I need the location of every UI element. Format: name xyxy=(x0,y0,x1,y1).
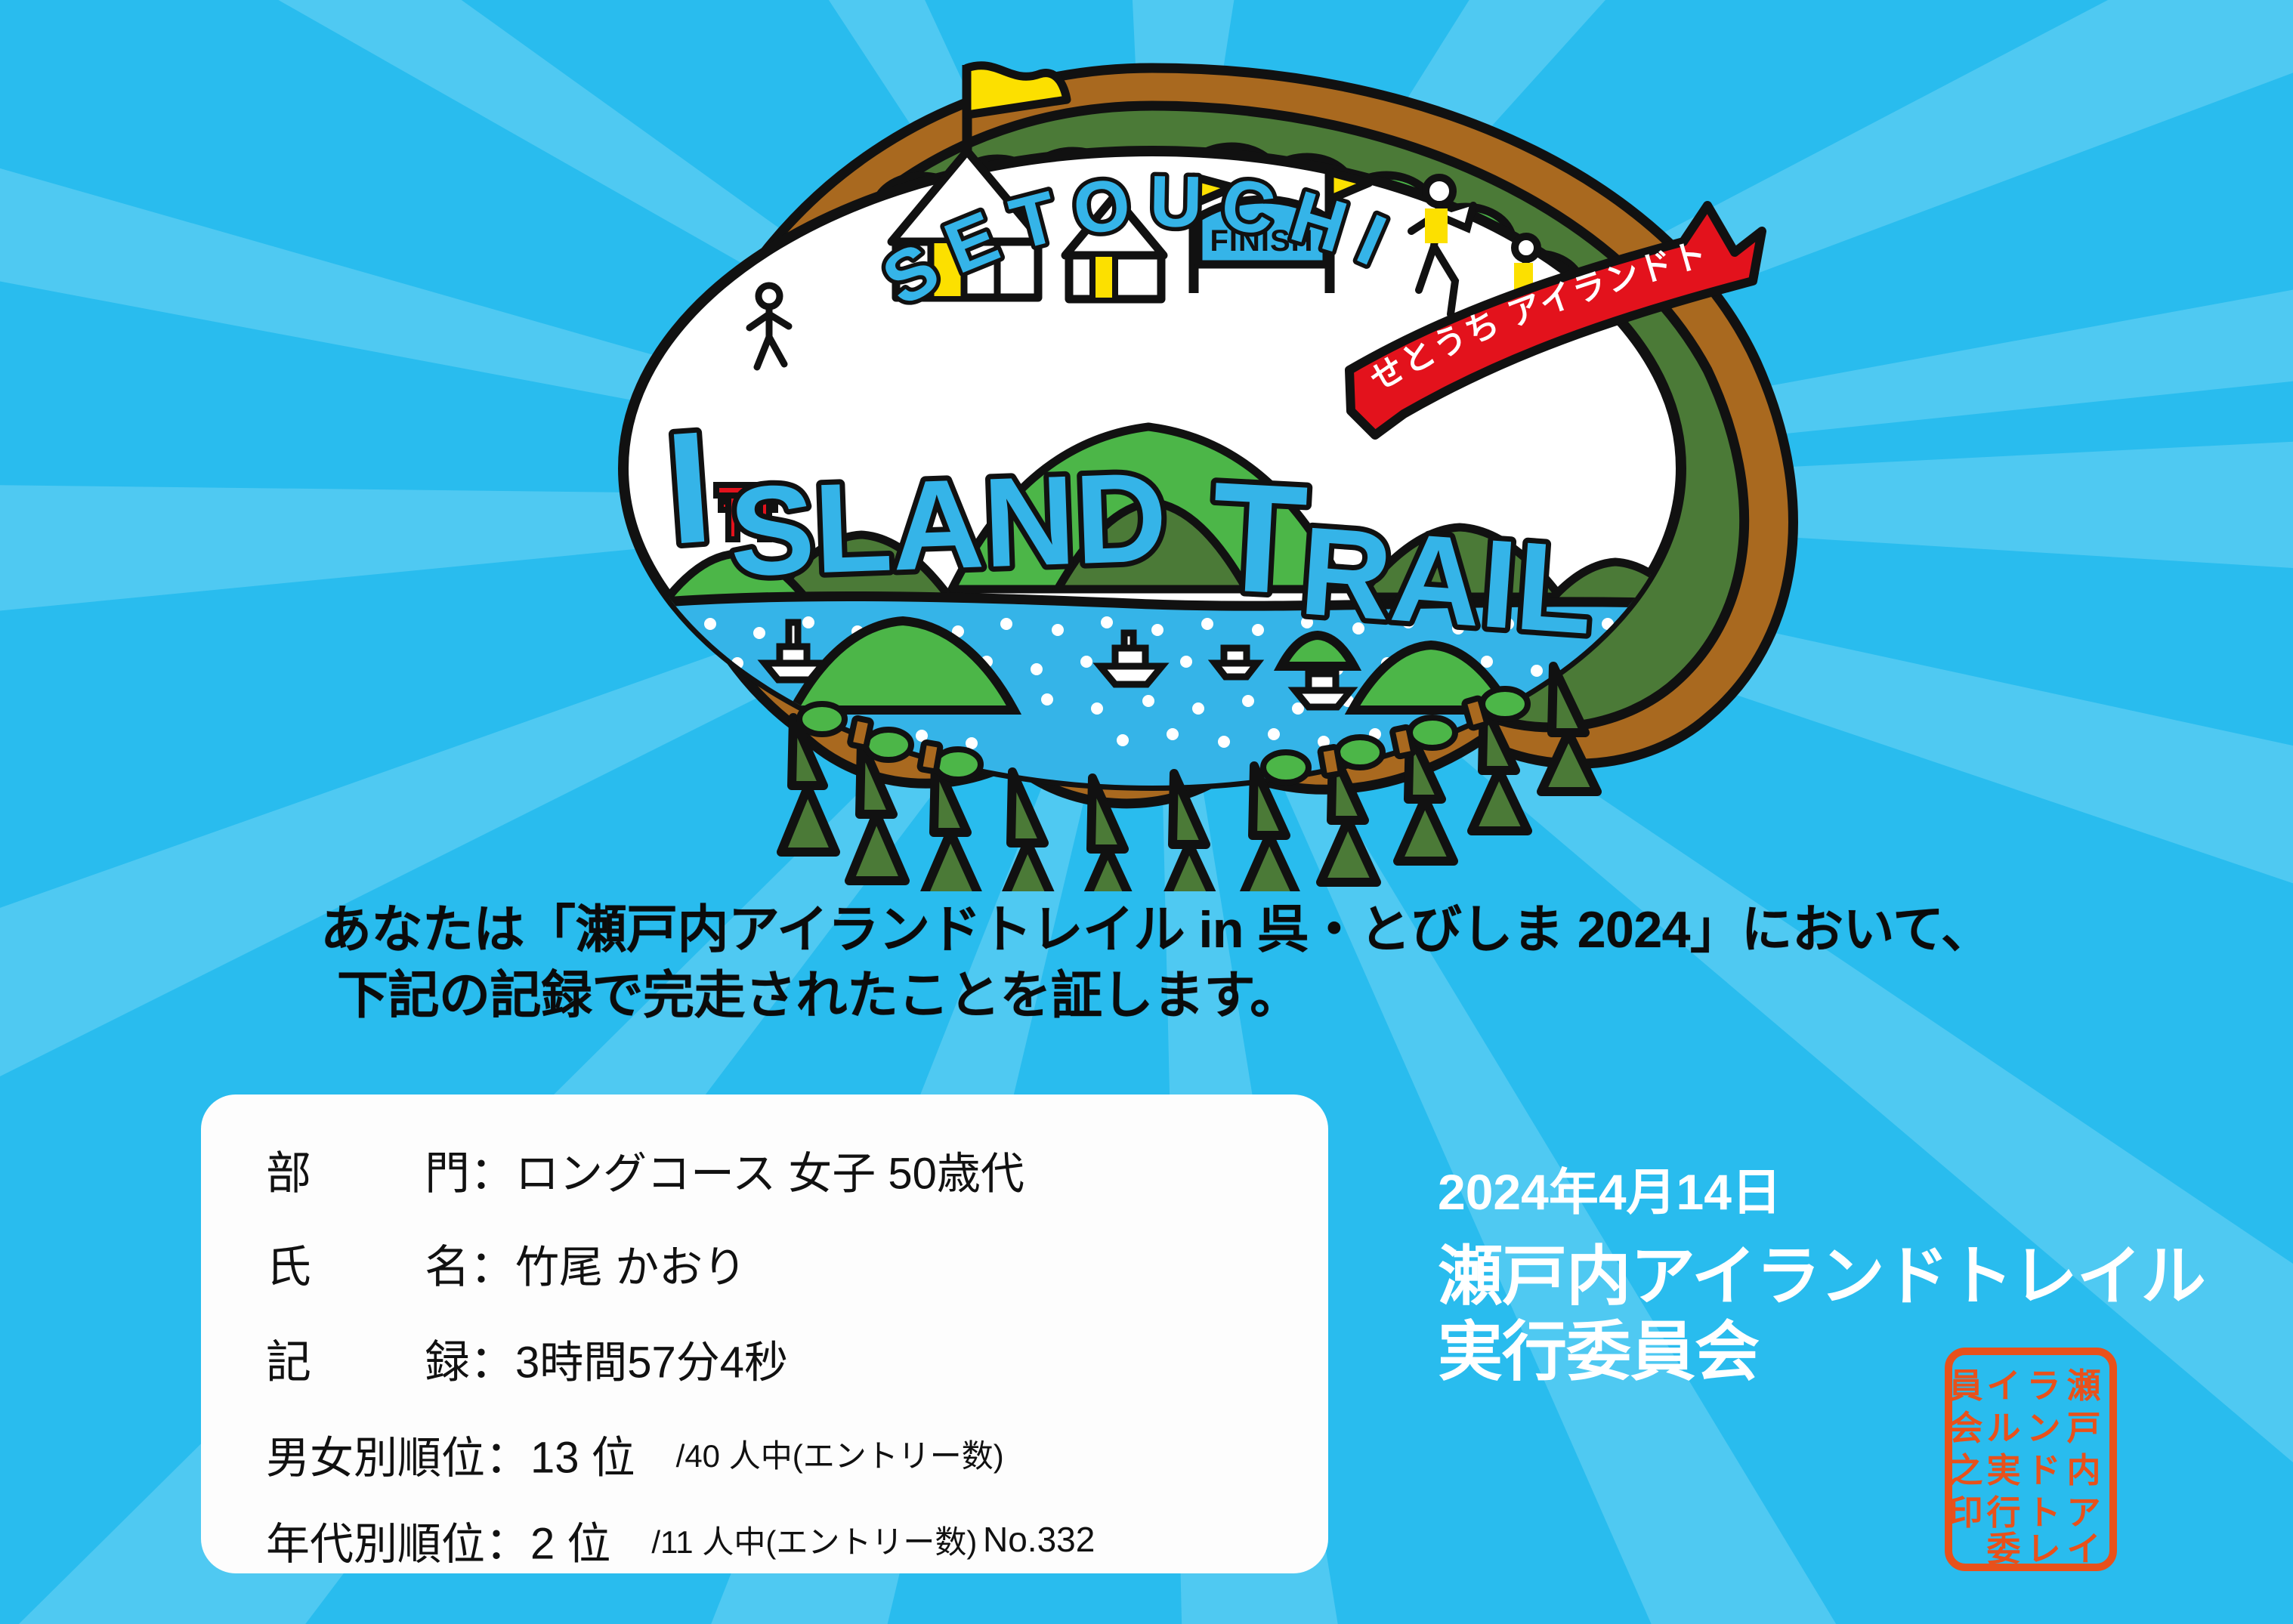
colon-time: ： xyxy=(470,1337,515,1388)
svg-text:ン: ン xyxy=(2026,1409,2060,1447)
record-row-age-rank: 年代別順位：2 位/11 人中(エントリー数) xyxy=(266,1507,977,1573)
bib-number: No.332 xyxy=(983,1519,1095,1560)
note-gender-rank: /40 人中(エントリー数) xyxy=(676,1438,1004,1474)
seal-column-3-char-1: イ xyxy=(1986,1366,2020,1405)
value-gender-rank: 13 位 xyxy=(530,1434,635,1483)
svg-text:内: 内 xyxy=(2066,1451,2100,1490)
svg-text:イ: イ xyxy=(2066,1530,2100,1568)
record-row-category: 部門：ロングコース 女子 50歳代 xyxy=(266,1137,1024,1203)
value-name: 竹尾 かおり xyxy=(515,1243,746,1292)
svg-text:印: 印 xyxy=(1948,1493,1982,1532)
statement-line-2: 下記の記録で完走されたことを証します。 xyxy=(337,963,2058,1029)
svg-text:行: 行 xyxy=(1986,1493,2020,1532)
svg-text:レ: レ xyxy=(2026,1530,2060,1568)
certificate-page: FINISH xyxy=(0,0,2293,1624)
label-name: 氏名 xyxy=(266,1230,470,1296)
seal-column-1-char-1: 瀬 xyxy=(2066,1366,2100,1405)
svg-text:実: 実 xyxy=(1986,1451,2020,1490)
record-row-time: 記録：3時間57分4秒 xyxy=(266,1326,788,1391)
svg-text:之: 之 xyxy=(1948,1451,1982,1490)
record-card: 部門：ロングコース 女子 50歳代 氏名：竹尾 かおり 記録：3時間57分4秒 … xyxy=(201,1095,1328,1573)
svg-text:会: 会 xyxy=(1948,1409,1982,1447)
event-logo: FINISH xyxy=(468,15,1851,891)
certification-statement: あなたは「瀬戸内アイランドトレイル in 呉・とびしま 2024」において、 下… xyxy=(320,897,2058,1029)
note-age-rank: /11 人中(エントリー数) xyxy=(651,1524,977,1560)
svg-text:ア: ア xyxy=(2066,1493,2100,1532)
logo-rail-text: RAIL xyxy=(1296,501,1597,661)
label-category: 部門 xyxy=(266,1137,470,1203)
value-age-rank: 2 位 xyxy=(530,1520,610,1569)
seal-column-2-char-1: ラ xyxy=(2026,1366,2060,1405)
record-row-gender-rank: 男女別順位：13 位/40 人中(エントリー数) xyxy=(266,1421,1004,1487)
colon-name: ： xyxy=(470,1242,515,1292)
colon-category: ： xyxy=(470,1148,515,1199)
value-category: ロングコース 女子 50歳代 xyxy=(515,1150,1024,1199)
issue-date: 2024年4月14日 xyxy=(1438,1167,2205,1217)
label-age-rank: 年代別順位 xyxy=(266,1508,485,1572)
svg-text:ド: ド xyxy=(2026,1451,2060,1490)
official-seal-stamp: 瀬 戸 内 ア イ ラ ン ド ト レ イ ル 実 行 委 員 会 之 印 xyxy=(1943,1346,2118,1573)
record-row-name: 氏名：竹尾 かおり xyxy=(266,1230,746,1296)
svg-text:ル: ル xyxy=(1986,1409,2020,1447)
statement-line-1: あなたは「瀬戸内アイランドトレイル in 呉・とびしま 2024」において、 xyxy=(320,897,2058,963)
svg-text:委: 委 xyxy=(1986,1530,2020,1568)
logo-t-text: T xyxy=(1207,449,1311,627)
logo-sland-text: SLAND xyxy=(728,446,1170,603)
svg-text:ト: ト xyxy=(2026,1493,2060,1532)
value-time: 3時間57分4秒 xyxy=(515,1338,788,1388)
label-gender-rank: 男女別順位 xyxy=(266,1422,485,1486)
label-time: 記録 xyxy=(266,1326,470,1391)
organizer-name-line-1: 瀬戸内アイランドトレイル xyxy=(1438,1240,2205,1315)
colon-age-rank: ： xyxy=(485,1518,530,1569)
svg-text:戸: 戸 xyxy=(2066,1409,2100,1447)
colon-gender-rank: ： xyxy=(485,1432,530,1483)
seal-column-4-char-1: 員 xyxy=(1948,1366,1982,1405)
